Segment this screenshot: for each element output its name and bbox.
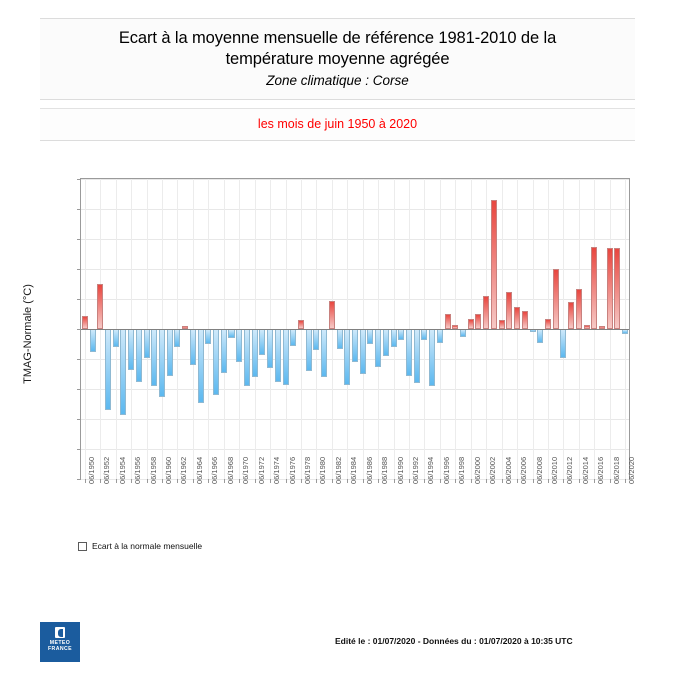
x-tick-mark bbox=[579, 479, 580, 483]
bar[interactable] bbox=[475, 314, 481, 329]
x-tick-mark bbox=[286, 479, 287, 483]
bar[interactable] bbox=[82, 316, 88, 330]
bar[interactable] bbox=[421, 329, 427, 340]
legend-checkbox-icon[interactable] bbox=[78, 542, 87, 551]
x-tick-mark bbox=[394, 479, 395, 483]
bar[interactable] bbox=[383, 329, 389, 356]
x-tick-mark bbox=[100, 479, 101, 483]
bar[interactable] bbox=[259, 329, 265, 355]
y-tick-mark bbox=[77, 479, 81, 480]
bar[interactable] bbox=[491, 200, 497, 329]
bar[interactable] bbox=[213, 329, 219, 395]
meteo-france-mark-icon bbox=[55, 627, 65, 638]
bar[interactable] bbox=[560, 329, 566, 358]
bar[interactable] bbox=[329, 301, 335, 330]
x-tick-mark bbox=[85, 479, 86, 483]
x-tick-mark bbox=[594, 479, 595, 483]
bar[interactable] bbox=[337, 329, 343, 349]
bar[interactable] bbox=[236, 329, 242, 362]
footer-divider bbox=[0, 596, 675, 597]
x-tick-mark bbox=[239, 479, 240, 483]
x-tick-mark bbox=[270, 479, 271, 483]
bar[interactable] bbox=[205, 329, 211, 344]
x-tick-mark bbox=[131, 479, 132, 483]
bar[interactable] bbox=[483, 296, 489, 329]
x-tick-mark bbox=[533, 479, 534, 483]
bar[interactable] bbox=[252, 329, 258, 377]
y-axis-label: TMAG-Normale (°C) bbox=[22, 284, 34, 384]
x-tick-mark bbox=[486, 479, 487, 483]
bar[interactable] bbox=[429, 329, 435, 386]
meteo-france-logo: METEO FRANCE bbox=[40, 622, 80, 662]
bar[interactable] bbox=[445, 314, 451, 329]
x-tick-mark bbox=[255, 479, 256, 483]
chart-legend[interactable]: Ecart à la normale mensuelle bbox=[78, 541, 202, 551]
bar[interactable] bbox=[275, 329, 281, 382]
bar[interactable] bbox=[298, 320, 304, 329]
bar[interactable] bbox=[553, 269, 559, 329]
bar[interactable] bbox=[221, 329, 227, 373]
x-tick-mark bbox=[625, 479, 626, 483]
x-tick-mark bbox=[424, 479, 425, 483]
x-tick-mark bbox=[332, 479, 333, 483]
logo-text-line2: FRANCE bbox=[40, 646, 80, 652]
bar[interactable] bbox=[105, 329, 111, 410]
x-tick-mark bbox=[193, 479, 194, 483]
x-tick-mark bbox=[147, 479, 148, 483]
bar[interactable] bbox=[460, 329, 466, 337]
bar[interactable] bbox=[313, 329, 319, 350]
bar[interactable] bbox=[267, 329, 273, 368]
footer-edition-info: Edité le : 01/07/2020 - Données du : 01/… bbox=[335, 636, 573, 646]
bar[interactable] bbox=[144, 329, 150, 358]
x-tick-mark bbox=[224, 479, 225, 483]
bar[interactable] bbox=[190, 329, 196, 365]
bar[interactable] bbox=[375, 329, 381, 367]
bar[interactable] bbox=[522, 311, 528, 329]
bar[interactable] bbox=[437, 329, 443, 343]
bar[interactable] bbox=[568, 302, 574, 329]
bar[interactable] bbox=[499, 320, 505, 329]
bar[interactable] bbox=[398, 329, 404, 340]
x-tick-mark bbox=[301, 479, 302, 483]
bar[interactable] bbox=[344, 329, 350, 385]
x-tick-mark bbox=[563, 479, 564, 483]
x-tick-mark bbox=[471, 479, 472, 483]
bar[interactable] bbox=[391, 329, 397, 347]
zero-line bbox=[81, 329, 629, 330]
bar[interactable] bbox=[198, 329, 204, 403]
bar[interactable] bbox=[244, 329, 250, 386]
bar[interactable] bbox=[90, 329, 96, 352]
bar[interactable] bbox=[514, 307, 520, 330]
bar[interactable] bbox=[290, 329, 296, 346]
legend-label: Ecart à la normale mensuelle bbox=[92, 541, 202, 551]
x-tick-mark bbox=[409, 479, 410, 483]
bar[interactable] bbox=[367, 329, 373, 344]
x-tick-mark bbox=[363, 479, 364, 483]
bar[interactable] bbox=[228, 329, 234, 338]
bar[interactable] bbox=[614, 248, 620, 329]
bar[interactable] bbox=[174, 329, 180, 347]
bar[interactable] bbox=[545, 319, 551, 330]
bar[interactable] bbox=[306, 329, 312, 371]
bar[interactable] bbox=[414, 329, 420, 383]
chart: TMAG-Normale (°C) 5.04.03.02.01.00.0-1.0… bbox=[0, 0, 675, 560]
x-tick-mark bbox=[316, 479, 317, 483]
x-tick-mark bbox=[502, 479, 503, 483]
bar[interactable] bbox=[576, 289, 582, 330]
bar[interactable] bbox=[406, 329, 412, 376]
x-tick-mark bbox=[116, 479, 117, 483]
x-tick-mark bbox=[548, 479, 549, 483]
report-page: Ecart à la moyenne mensuelle de référenc… bbox=[0, 0, 675, 675]
bar[interactable] bbox=[506, 292, 512, 330]
bar[interactable] bbox=[120, 329, 126, 415]
x-tick-mark bbox=[610, 479, 611, 483]
bar[interactable] bbox=[167, 329, 173, 376]
bar[interactable] bbox=[151, 329, 157, 386]
bar[interactable] bbox=[113, 329, 119, 347]
bar[interactable] bbox=[321, 329, 327, 377]
plot-area bbox=[80, 178, 630, 480]
bar[interactable] bbox=[360, 329, 366, 374]
bar[interactable] bbox=[128, 329, 134, 370]
x-tick-mark bbox=[208, 479, 209, 483]
bar[interactable] bbox=[159, 329, 165, 397]
bar[interactable] bbox=[283, 329, 289, 385]
x-tick-mark bbox=[455, 479, 456, 483]
bar[interactable] bbox=[352, 329, 358, 362]
x-tick-mark bbox=[440, 479, 441, 483]
x-tick-mark bbox=[378, 479, 379, 483]
bar[interactable] bbox=[591, 247, 597, 330]
x-tick-mark bbox=[162, 479, 163, 483]
x-tick-mark bbox=[177, 479, 178, 483]
bar[interactable] bbox=[97, 284, 103, 329]
x-tick-mark bbox=[347, 479, 348, 483]
bar[interactable] bbox=[468, 319, 474, 330]
bar[interactable] bbox=[537, 329, 543, 343]
bar[interactable] bbox=[607, 248, 613, 329]
bar[interactable] bbox=[136, 329, 142, 382]
x-tick-mark bbox=[517, 479, 518, 483]
